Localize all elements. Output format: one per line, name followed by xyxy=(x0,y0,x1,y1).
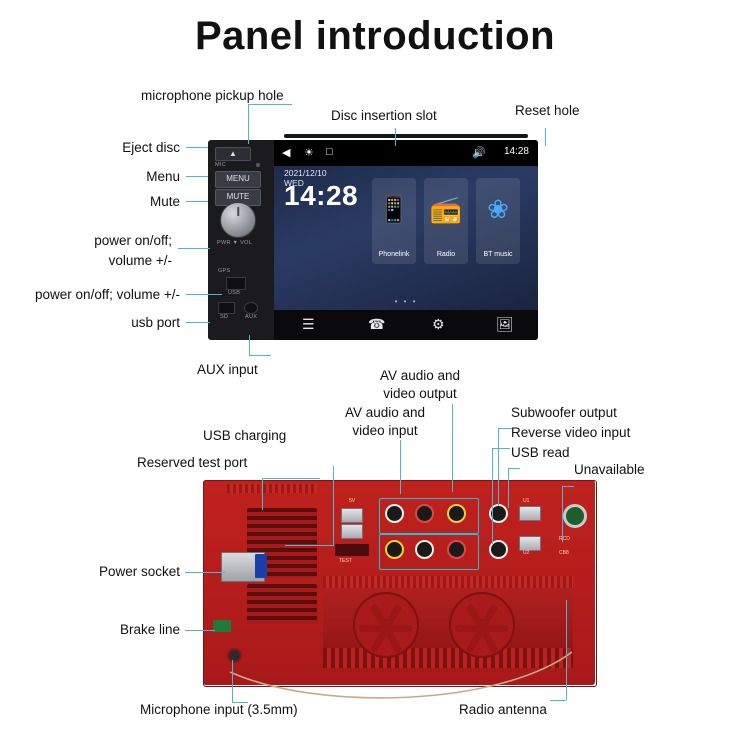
u2-silkscreen: U2 xyxy=(523,550,529,556)
label-mute: Mute xyxy=(0,194,180,211)
gallery-icon[interactable]: 🖼 xyxy=(496,316,514,333)
tile-phonelink[interactable]: 📱 Phonelink xyxy=(372,178,416,264)
eject-disc-button[interactable]: ▲ xyxy=(215,147,251,161)
tile-label: BT music xyxy=(476,251,520,258)
label-tf-card-slot: usb port xyxy=(0,315,180,332)
leader-usb xyxy=(186,294,222,295)
rca-input-yellow[interactable] xyxy=(385,540,404,559)
head-unit-front: ▲ MIC MENU MUTE PWR ▼ VOL GPS USB SD AUX… xyxy=(208,140,538,340)
tile-label: Phonelink xyxy=(372,251,416,258)
phone-icon: 📱 xyxy=(372,194,416,225)
leader-power-socket xyxy=(185,572,225,573)
label-av-output-line1: AV audio and xyxy=(340,368,500,385)
leader-unavailable-v xyxy=(562,486,563,542)
tile-bt-music[interactable]: ❀ BT music xyxy=(476,178,520,264)
menu-button[interactable]: MENU xyxy=(215,171,261,188)
tile-label: Radio xyxy=(424,251,468,258)
usb-unavailable-port[interactable] xyxy=(519,536,541,551)
leader-test-v xyxy=(333,466,334,546)
leader-power xyxy=(178,248,210,249)
leader-mic-v xyxy=(248,104,249,144)
home-icon[interactable]: □ xyxy=(326,146,333,158)
rca-input-red[interactable] xyxy=(447,540,466,559)
label-power-line2: volume +/- xyxy=(0,253,172,270)
label-usb-read: USB read xyxy=(511,445,570,462)
usb-silkscreen: USB xyxy=(228,290,240,296)
gps-silkscreen: GPS xyxy=(218,268,231,274)
reserved-test-port[interactable] xyxy=(335,544,369,556)
label-radio-antenna: Radio antenna xyxy=(459,702,547,719)
screen-date: 2021/12/10 xyxy=(284,168,327,178)
leader-subwoofer-h xyxy=(498,428,512,429)
board-top-fingers xyxy=(227,484,317,493)
leader-unavailable-h xyxy=(562,486,574,487)
label-brake-line: Brake line xyxy=(0,622,180,639)
usb-5v-silkscreen: 5V xyxy=(349,498,355,504)
label-power-socket: Power socket xyxy=(0,564,180,581)
label-reset-hole: Reset hole xyxy=(515,103,580,120)
page-title: Panel introduction xyxy=(0,14,750,59)
usb-charging-port-2[interactable] xyxy=(341,524,363,539)
aux-input[interactable] xyxy=(244,302,258,314)
label-unavailable: Unavailable xyxy=(574,462,645,479)
label-usb-port: power on/off; volume +/- xyxy=(0,287,180,304)
radio-icon: 📻 xyxy=(424,194,468,225)
panel-introduction-diagram: Panel introduction ▲ MIC MENU MUTE PWR ▼… xyxy=(0,0,750,750)
power-volume-knob[interactable] xyxy=(220,202,256,238)
usb-port[interactable] xyxy=(226,277,246,290)
leader-aux-v xyxy=(249,335,250,355)
screen-clock: 14:28 xyxy=(284,180,358,212)
equalizer-icon[interactable]: ☰ xyxy=(302,316,315,333)
rca-output-red[interactable] xyxy=(415,504,434,523)
leader-reverse-h xyxy=(492,448,510,449)
label-eject-disc: Eject disc xyxy=(0,140,180,157)
leader-antenna-h xyxy=(550,700,566,701)
leader-reset-v xyxy=(545,128,546,146)
page-dots: • • • xyxy=(274,297,538,306)
screen-status-bar: ◀ ☀ □ 🔊 14:28 xyxy=(274,140,538,166)
leader-mic-input-v xyxy=(232,660,233,702)
leader-av-input-v xyxy=(400,440,401,494)
sd-silkscreen: SD xyxy=(220,314,228,320)
leader-subwoofer-v xyxy=(498,428,499,506)
status-time: 14:28 xyxy=(504,146,529,157)
home-wallpaper: 2021/12/10 WED 14:28 📱 Phonelink 📻 Radio… xyxy=(274,166,538,310)
leader-eject xyxy=(186,147,208,148)
leader-disc-v xyxy=(395,128,396,146)
bluetooth-icon: ❀ xyxy=(476,194,520,225)
u1-silkscreen: U1 xyxy=(523,498,529,504)
label-usb-charging: USB charging xyxy=(203,428,286,445)
rca-output-white[interactable] xyxy=(385,504,404,523)
rcd-silkscreen: RCD xyxy=(559,536,570,542)
settings-icon[interactable]: ⚙ xyxy=(432,316,445,333)
label-reverse-video-input: Reverse video input xyxy=(511,425,630,442)
mic-silkscreen: MIC xyxy=(215,162,226,168)
disc-insertion-slot[interactable] xyxy=(284,134,528,138)
front-face-panel: ▲ MIC MENU MUTE PWR ▼ VOL GPS USB SD AUX xyxy=(208,140,276,340)
label-power-line1: power on/off; xyxy=(0,233,172,250)
leader-aux-h xyxy=(249,355,271,356)
power-socket-blue-latch xyxy=(255,554,267,578)
usb-charging-port-1[interactable] xyxy=(341,508,363,523)
phone-icon[interactable]: ☎ xyxy=(368,316,385,333)
reset-hole[interactable] xyxy=(256,163,260,167)
label-av-input-line2: video input xyxy=(305,423,465,440)
leader-usbread-v xyxy=(508,468,509,508)
tf-card-slot[interactable] xyxy=(218,302,235,314)
usb-read-port[interactable] xyxy=(519,506,541,521)
label-microphone-input: Microphone input (3.5mm) xyxy=(140,702,298,719)
label-aux-input: AUX input xyxy=(197,362,258,379)
brightness-icon[interactable]: ☀ xyxy=(304,146,314,159)
leader-mute xyxy=(186,201,208,202)
antenna-wire xyxy=(200,600,600,710)
cb8-silkscreen: CB8 xyxy=(559,550,569,556)
tile-radio[interactable]: 📻 Radio xyxy=(424,178,468,264)
leader-brake-line xyxy=(185,630,215,631)
volume-icon[interactable]: 🔊 xyxy=(472,146,486,159)
label-subwoofer-output: Subwoofer output xyxy=(511,405,617,422)
label-av-input-line1: AV audio and xyxy=(305,405,465,422)
label-menu: Menu xyxy=(0,169,180,186)
pwr-vol-silkscreen: PWR ▼ VOL xyxy=(217,240,252,246)
leader-usbread-h xyxy=(508,468,520,469)
label-microphone-pickup-hole: microphone pickup hole xyxy=(141,88,284,105)
back-icon[interactable]: ◀ xyxy=(282,146,290,159)
aux-silkscreen: AUX xyxy=(245,314,257,320)
rca-input-white[interactable] xyxy=(415,540,434,559)
screen-nav-bar: ☰ ☎ ⚙ 🖼 xyxy=(274,310,538,340)
leader-usb-charging-v xyxy=(262,478,263,510)
leader-menu xyxy=(186,176,208,177)
test-silkscreen: TEST xyxy=(339,558,352,564)
radio-antenna-connector[interactable] xyxy=(563,504,587,528)
label-disc-insertion-slot: Disc insertion slot xyxy=(331,108,437,125)
rca-output-yellow[interactable] xyxy=(447,504,466,523)
leader-reverse-v xyxy=(492,448,493,544)
label-av-output-line2: video output xyxy=(340,386,500,403)
touch-screen[interactable]: ◀ ☀ □ 🔊 14:28 2021/12/10 WED 14:28 📱 Pho… xyxy=(274,140,538,340)
leader-antenna-v xyxy=(566,600,567,700)
leader-tf xyxy=(186,322,210,323)
leader-test-h xyxy=(285,545,333,546)
leader-usb-charging-h xyxy=(262,478,320,479)
label-reserved-test-port: Reserved test port xyxy=(137,455,247,472)
